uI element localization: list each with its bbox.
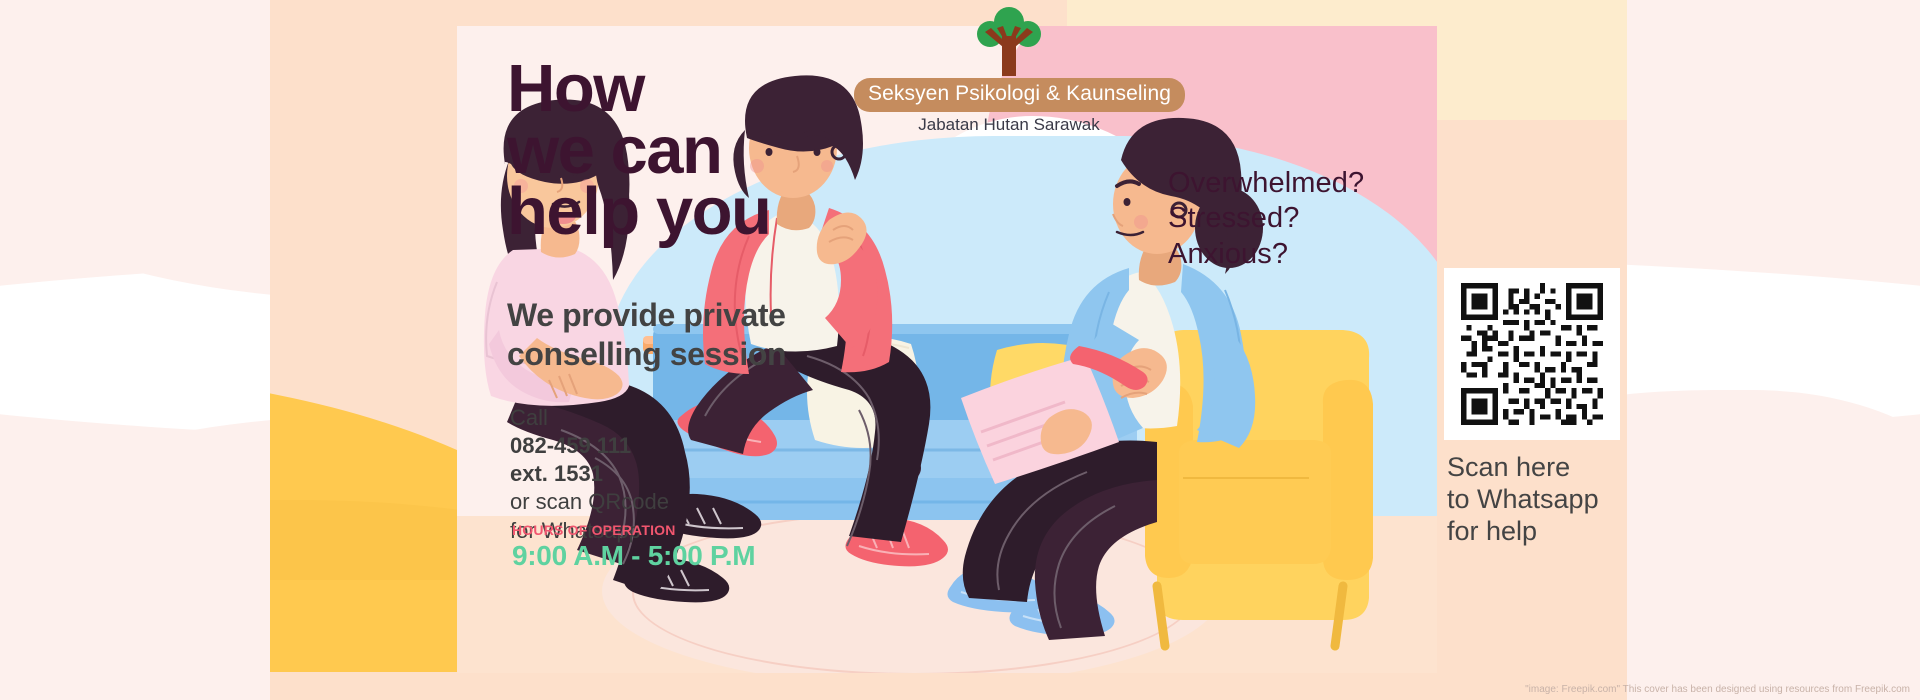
headline-line-1: How <box>507 58 770 120</box>
qr-code-card[interactable] <box>1444 268 1620 440</box>
question-line-3: Anxious? <box>1168 237 1364 272</box>
qr-caption: Scan here to Whatsapp for help <box>1447 452 1599 548</box>
phone-extension: ext. 1531 <box>510 461 603 486</box>
contact-line-3: or scan QRcode <box>510 488 669 516</box>
qr-caption-line-3: for help <box>1447 516 1599 548</box>
headline-line-2: we can <box>507 120 770 182</box>
tree-icon <box>963 6 1055 78</box>
hours-value: 9:00 A.M - 5:00 P.M <box>512 540 755 572</box>
headline-line-3: help you <box>507 181 770 243</box>
call-prefix: Call <box>510 404 669 432</box>
questions-block: Overwhelmed? Stressed? Anxious? <box>1168 166 1364 272</box>
department-logo: Seksyen Psikologi & Kaunseling Jabatan H… <box>854 6 1164 141</box>
qr-caption-line-1: Scan here <box>1447 452 1599 484</box>
qr-caption-line-2: to Whatsapp <box>1447 484 1599 516</box>
hours-label: HOURS OF OPERATION <box>512 522 676 538</box>
subheading: We provide private conselling session <box>507 296 786 374</box>
whatsapp-qr-code[interactable] <box>1454 278 1610 430</box>
logo-subtitle: Jabatan Hutan Sarawak <box>854 115 1164 135</box>
image-credit: "image: Freepik.com" This cover has been… <box>1525 684 1910 695</box>
contact-ext-line: ext. 1531 <box>510 460 669 488</box>
poster-canvas: Seksyen Psikologi & Kaunseling Jabatan H… <box>0 0 1920 700</box>
subheading-line-1: We provide private <box>507 296 786 335</box>
rug-inner-ring <box>632 511 1196 673</box>
logo-pill-text: Seksyen Psikologi & Kaunseling <box>854 78 1185 112</box>
question-line-1: Overwhelmed? <box>1168 166 1364 201</box>
subheading-line-2: conselling session <box>507 335 786 374</box>
page-title: How we can help you <box>507 58 770 243</box>
phone-number: 082-459 111 <box>510 433 631 458</box>
question-line-2: Stressed? <box>1168 201 1364 236</box>
contact-phone-line: Call 082-459 111 <box>510 404 669 460</box>
